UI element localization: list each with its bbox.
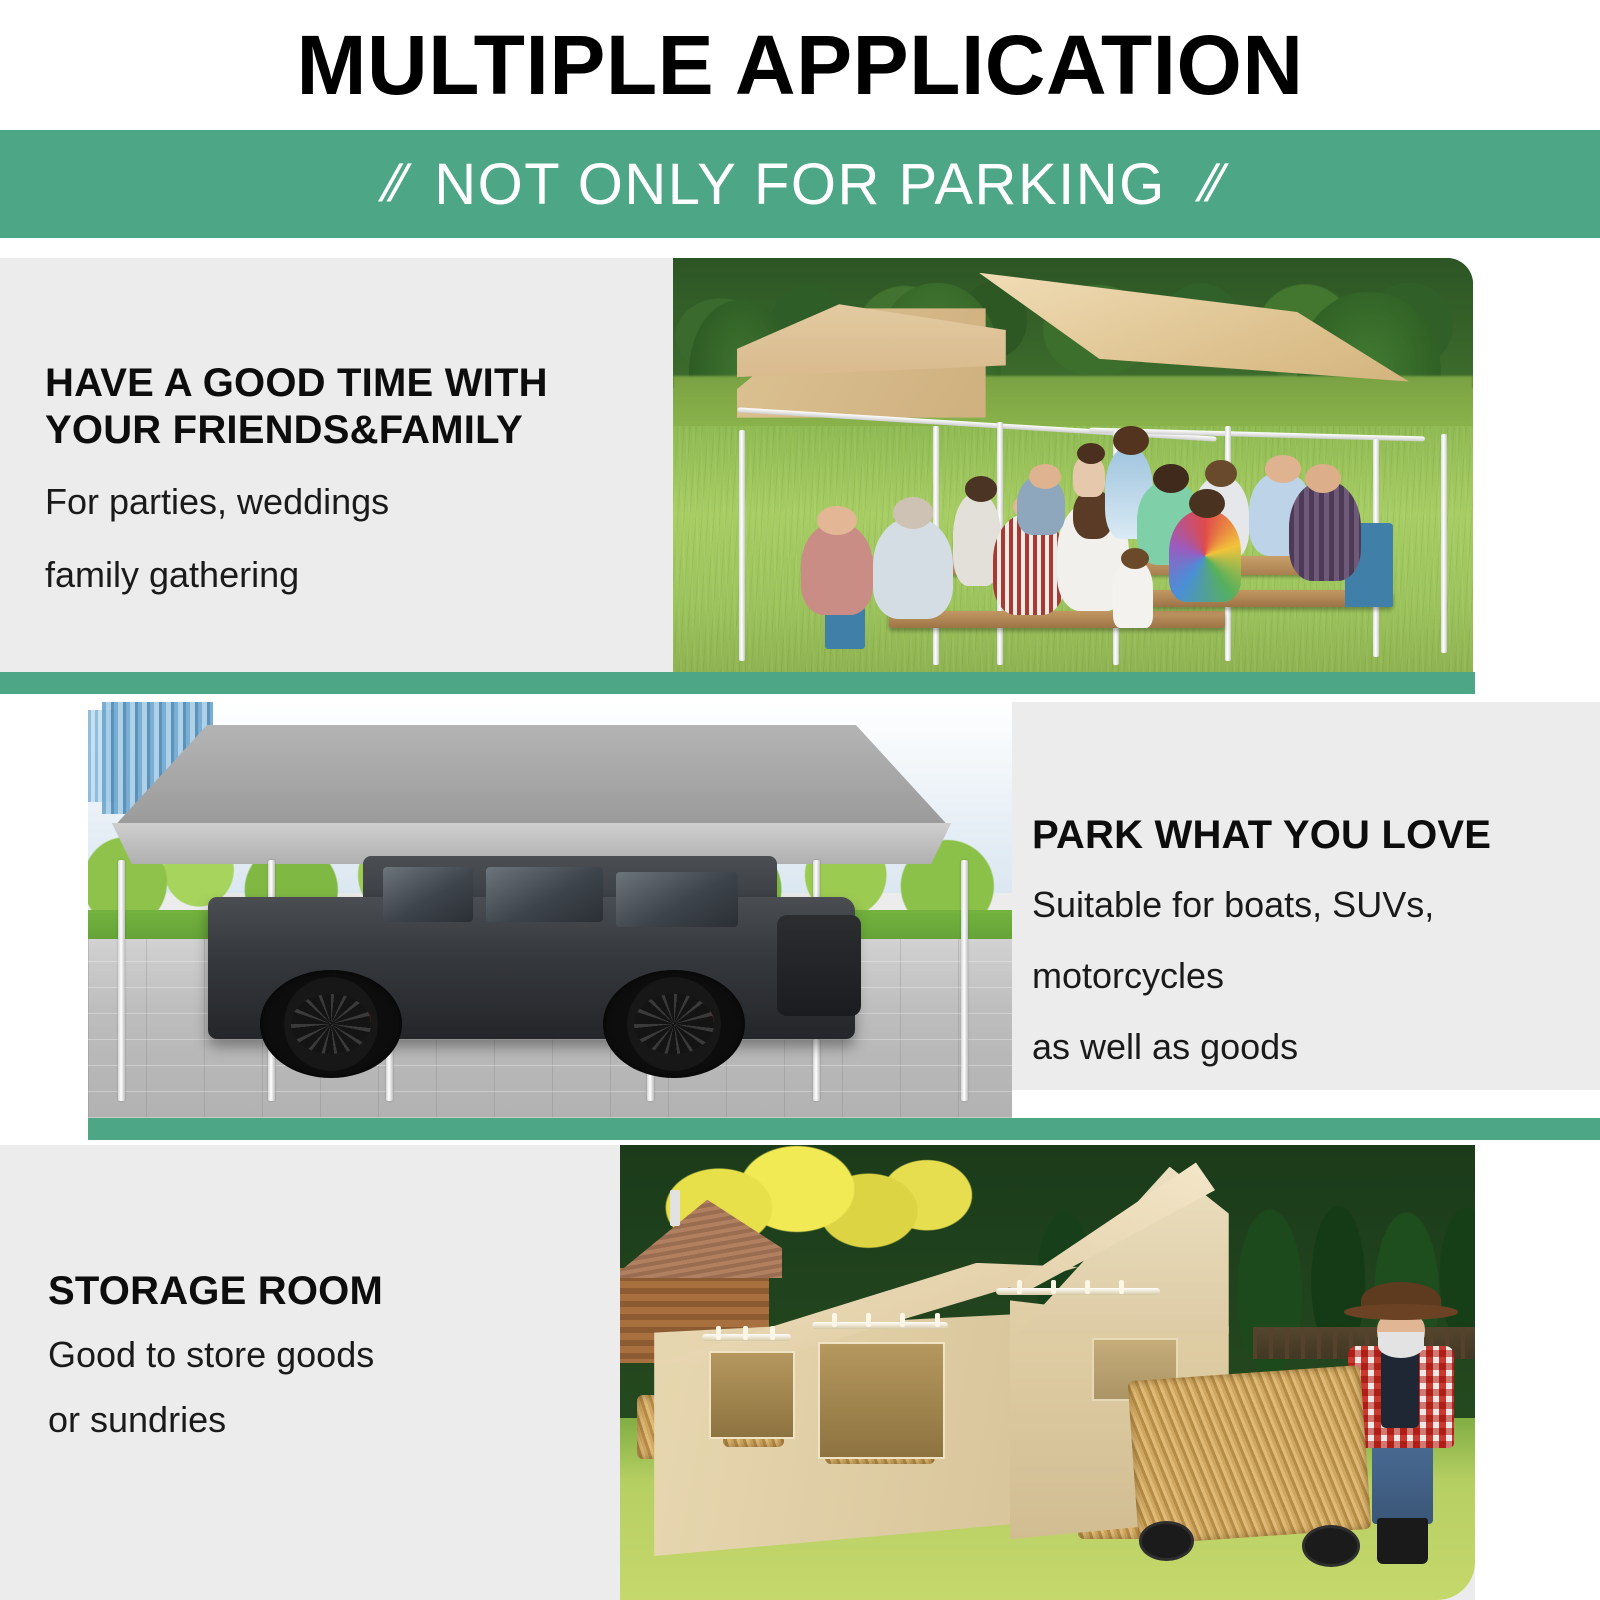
curtain-ring-8 xyxy=(1017,1280,1022,1294)
suv-window-rear xyxy=(616,872,739,927)
section-2-body-line-3: as well as goods xyxy=(1032,1021,1577,1072)
farmer-beard xyxy=(1378,1332,1424,1357)
section-3-image xyxy=(620,1145,1475,1600)
beige-canopy xyxy=(737,262,1409,472)
subtitle-text: NOT ONLY FOR PARKING xyxy=(434,151,1166,218)
section-3-body-line-1: Good to store goods xyxy=(48,1329,608,1380)
suv-spare-tire xyxy=(777,915,861,1016)
curtain-ring-1 xyxy=(716,1326,721,1340)
suv-wheel-rear xyxy=(603,970,745,1078)
subtitle-banner: // NOT ONLY FOR PARKING // xyxy=(0,130,1600,238)
section-3-heading: STORAGE ROOM xyxy=(48,1268,608,1315)
garage-window-large xyxy=(818,1342,945,1459)
suv-window-mid xyxy=(486,867,602,922)
carport-leg-1 xyxy=(118,860,125,1101)
person-guitarist-head xyxy=(817,506,857,535)
person-blue-shirt-right-head xyxy=(1265,455,1301,482)
section-3-body-line-2: or sundries xyxy=(48,1394,608,1445)
canopy-right-slope xyxy=(979,273,1409,424)
brake-caliper-rear xyxy=(697,1009,714,1037)
toddler-standing-head xyxy=(1121,548,1149,569)
curtain-ring-4 xyxy=(832,1313,837,1327)
cart-wheel-rear xyxy=(1302,1525,1360,1567)
curtain-ring-7 xyxy=(935,1313,940,1327)
curtain-ring-9 xyxy=(1051,1280,1056,1294)
curtain-ring-6 xyxy=(900,1313,905,1327)
section-2-divider xyxy=(88,1118,1600,1140)
curtain-ring-5 xyxy=(866,1313,871,1327)
curtain-ring-11 xyxy=(1119,1280,1124,1294)
section-1-text-block: HAVE A GOOD TIME WITH YOUR FRIENDS&FAMIL… xyxy=(45,360,665,601)
section-1-body-line-2: family gathering xyxy=(45,549,665,600)
suv-wheel-front xyxy=(260,970,402,1078)
section-1-image xyxy=(673,258,1473,678)
cowboy-hat-icon xyxy=(1361,1282,1441,1319)
canopy-leg-7 xyxy=(1441,434,1447,652)
person-light-top-head xyxy=(1205,460,1237,487)
hay-cart xyxy=(1133,1373,1424,1573)
person-green-top-head xyxy=(1153,464,1189,493)
cart-wheel-front xyxy=(1139,1521,1194,1561)
section-2-image xyxy=(88,702,1012,1118)
person-blue-shirt-head xyxy=(1029,464,1061,489)
carport-leg-6 xyxy=(961,860,968,1101)
section-1-body-line-1: For parties, weddings xyxy=(45,476,665,527)
toddler-standing xyxy=(1113,560,1153,627)
person-colorful-dress xyxy=(1169,510,1241,602)
canopy-leg-1 xyxy=(739,430,745,661)
curtain-ring-10 xyxy=(1085,1280,1090,1294)
black-suv xyxy=(208,856,855,1085)
brake-caliper-front xyxy=(354,1009,371,1037)
garage-window-small xyxy=(709,1351,795,1439)
person-purple-plaid-head xyxy=(1305,464,1341,493)
section-2-heading: PARK WHAT YOU LOVE xyxy=(1032,812,1577,859)
person-purple-plaid xyxy=(1289,481,1361,582)
section-1-heading: HAVE A GOOD TIME WITH YOUR FRIENDS&FAMIL… xyxy=(45,360,665,454)
slash-right-icon: // xyxy=(1191,154,1225,214)
person-seated-2 xyxy=(873,518,953,619)
suv-window-front xyxy=(383,867,474,922)
section-2-text-block: PARK WHAT YOU LOVE Suitable for boats, S… xyxy=(1032,812,1577,1073)
curtain-ring-2 xyxy=(743,1326,748,1340)
section-3-text-block: STORAGE ROOM Good to store goods or sund… xyxy=(48,1268,608,1445)
person-guitarist xyxy=(801,523,873,615)
grey-canopy-roof xyxy=(116,725,948,825)
marketing-infographic: MULTIPLE APPLICATION // NOT ONLY FOR PAR… xyxy=(0,0,1600,1600)
person-seated-3-head xyxy=(965,476,997,501)
slash-left-icon: // xyxy=(375,154,409,214)
person-seated-2-head xyxy=(893,497,933,529)
section-2-body-line-1: Suitable for boats, SUVs, xyxy=(1032,879,1577,930)
hay-bale-on-cart xyxy=(1128,1365,1371,1545)
page-title: MULTIPLE APPLICATION xyxy=(0,0,1600,130)
section-2-body-line-2: motorcycles xyxy=(1032,950,1577,1001)
curtain-ring-3 xyxy=(770,1326,775,1340)
child-held-head xyxy=(1077,443,1105,464)
section-1-divider xyxy=(0,672,1475,694)
